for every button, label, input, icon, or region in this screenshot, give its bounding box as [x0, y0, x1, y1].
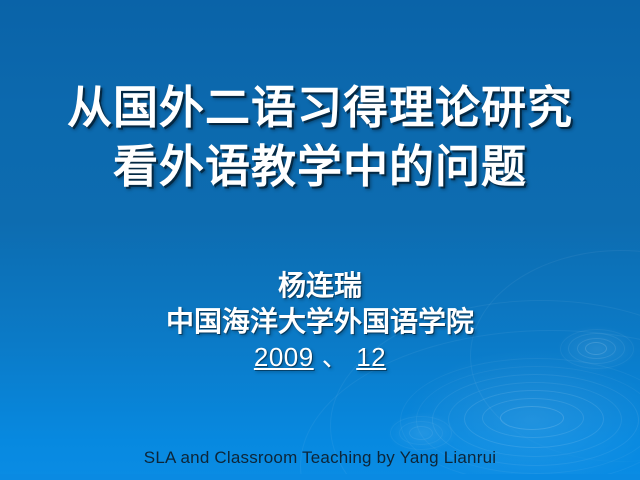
ripple-ring-large-4	[448, 382, 622, 457]
subtitle-date-month: 12	[356, 342, 386, 372]
title-line-1: 从国外二语习得理论研究	[0, 78, 640, 137]
slide-subtitle: 杨连瑞 中国海洋大学外国语学院 2009、12	[0, 268, 640, 374]
ripple-ring-small-left-3	[390, 416, 452, 450]
subtitle-author: 杨连瑞	[0, 268, 640, 304]
ripple-ring-large-3	[464, 390, 604, 448]
slide-footer: SLA and Classroom Teaching by Yang Lianr…	[0, 447, 640, 469]
presentation-slide: 从国外二语习得理论研究 看外语教学中的问题 杨连瑞 中国海洋大学外国语学院 20…	[0, 0, 640, 480]
ripple-ring-large-2	[482, 398, 584, 438]
ripple-ring-small-left-1	[409, 426, 433, 440]
footer-text: SLA and Classroom Teaching by Yang Lianr…	[0, 447, 640, 469]
subtitle-date: 2009、12	[0, 340, 640, 374]
ripple-ring-large-1	[500, 406, 564, 430]
ripple-decoration-layer	[0, 0, 640, 480]
title-line-2: 看外语教学中的问题	[0, 137, 640, 196]
subtitle-affiliation: 中国海洋大学外国语学院	[0, 304, 640, 340]
slide-title: 从国外二语习得理论研究 看外语教学中的问题	[0, 78, 640, 196]
subtitle-date-year: 2009	[254, 342, 314, 372]
bottom-edge-band	[0, 474, 640, 480]
subtitle-date-separator: 、	[314, 340, 357, 374]
ripple-ring-small-left-2	[399, 421, 443, 445]
